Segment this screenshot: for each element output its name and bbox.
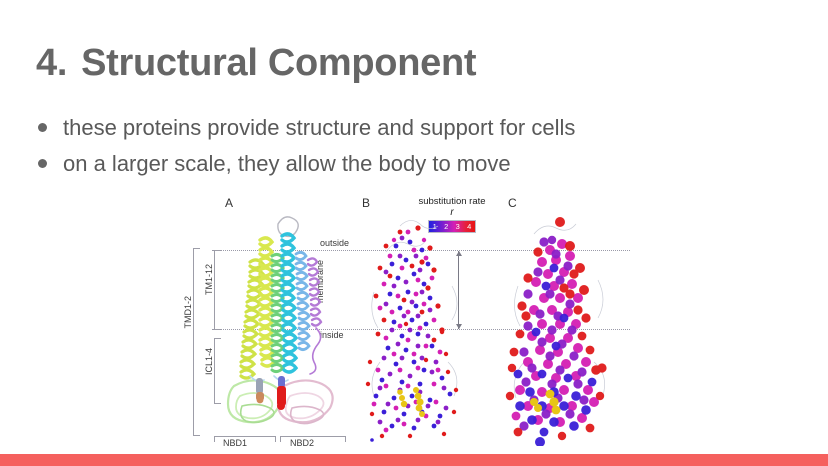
panel-letter-a: A <box>225 196 233 210</box>
label-tmd: TMD1-2 <box>183 296 193 329</box>
list-item: these proteins provide structure and sup… <box>38 113 778 143</box>
bullet-dot-icon <box>38 159 47 168</box>
bullet-dot-icon <box>38 123 47 132</box>
ball-stick-model-svg <box>356 212 476 444</box>
bullet-text: these proteins provide structure and sup… <box>63 113 575 143</box>
title-number: 4. <box>36 42 67 84</box>
panel-c-structure <box>498 210 624 446</box>
panel-letter-c: C <box>508 196 517 210</box>
label-icl: ICL1-4 <box>204 348 214 375</box>
page-title: 4.Structural Component <box>36 42 476 85</box>
bracket-tmd <box>193 248 200 436</box>
space-filling-model-svg <box>498 210 624 446</box>
slide-canvas: 4.Structural Component these proteins pr… <box>0 0 828 466</box>
panel-a-structure <box>220 210 340 438</box>
protein-structure-figure: A B C outside inside membrane TMD1-2 TM1… <box>190 196 630 454</box>
bullet-text: on a larger scale, they allow the body t… <box>63 149 511 179</box>
title-text: Structural Component <box>81 42 476 84</box>
label-nbd2: NBD2 <box>290 438 314 448</box>
panel-letter-b: B <box>362 196 370 210</box>
panel-b-structure <box>356 212 476 444</box>
bullet-list: these proteins provide structure and sup… <box>38 113 778 184</box>
label-nbd1: NBD1 <box>223 438 247 448</box>
ribbon-diagram-svg <box>220 210 340 438</box>
legend-title: substitution rate <box>402 196 502 207</box>
accent-bar <box>0 454 828 466</box>
list-item: on a larger scale, they allow the body t… <box>38 149 778 179</box>
label-tm: TM1-12 <box>204 264 214 295</box>
